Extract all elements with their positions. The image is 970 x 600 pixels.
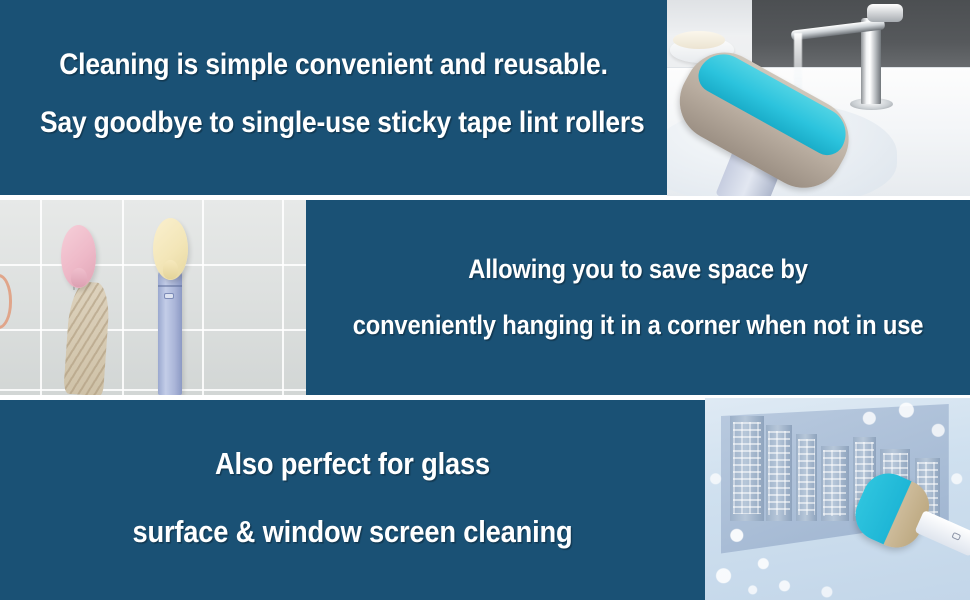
sink-wall-left (667, 0, 752, 35)
bathroom-sink-lint-roller-photo (667, 0, 970, 196)
brush-handle-seam (158, 285, 182, 287)
row2-headline-line1: Allowing you to save space by (346, 256, 930, 283)
tile-grout-horizontal (0, 264, 306, 266)
brush-handle-button-row3 (951, 532, 961, 541)
row1-text-panel: Cleaning is simple convenient and reusab… (0, 0, 667, 195)
wall-hooks-hanging-brush-photo (0, 200, 306, 395)
row3-headline-line1: Also perfect for glass (42, 448, 662, 479)
pink-adhesive-hook (61, 225, 96, 287)
cream-adhesive-hook (153, 218, 188, 280)
tile-wall-background (0, 200, 306, 395)
tile-grout-horizontal (0, 329, 306, 331)
brush-handle-row3 (915, 510, 970, 557)
row3-text-panel: Also perfect for glass surface & window … (0, 400, 705, 600)
tile-grout-vertical (282, 200, 284, 395)
brush-handle-button (164, 293, 174, 299)
pink-hook-nub (71, 268, 86, 287)
row1-headline-line1: Cleaning is simple convenient and reusab… (40, 50, 627, 80)
tile-grout-vertical (40, 200, 42, 395)
product-feature-banner: Cleaning is simple convenient and reusab… (0, 0, 970, 600)
lint-brush-handle-row2 (158, 270, 182, 395)
row2-text-panel: Allowing you to save space by convenient… (306, 200, 970, 395)
row2-headline-line2: conveniently hanging it in a corner when… (346, 312, 930, 339)
tile-grout-vertical (122, 200, 124, 395)
row1-headline-line2: Say goodbye to single-use sticky tape li… (40, 108, 627, 138)
tile-grout-horizontal (0, 389, 306, 391)
window-glass-cleaning-photo (705, 398, 970, 600)
tile-grout-vertical (202, 200, 204, 395)
faucet-handle (867, 4, 903, 22)
row3-headline-line2: surface & window screen cleaning (42, 516, 662, 547)
cream-hook-nub (163, 260, 178, 279)
